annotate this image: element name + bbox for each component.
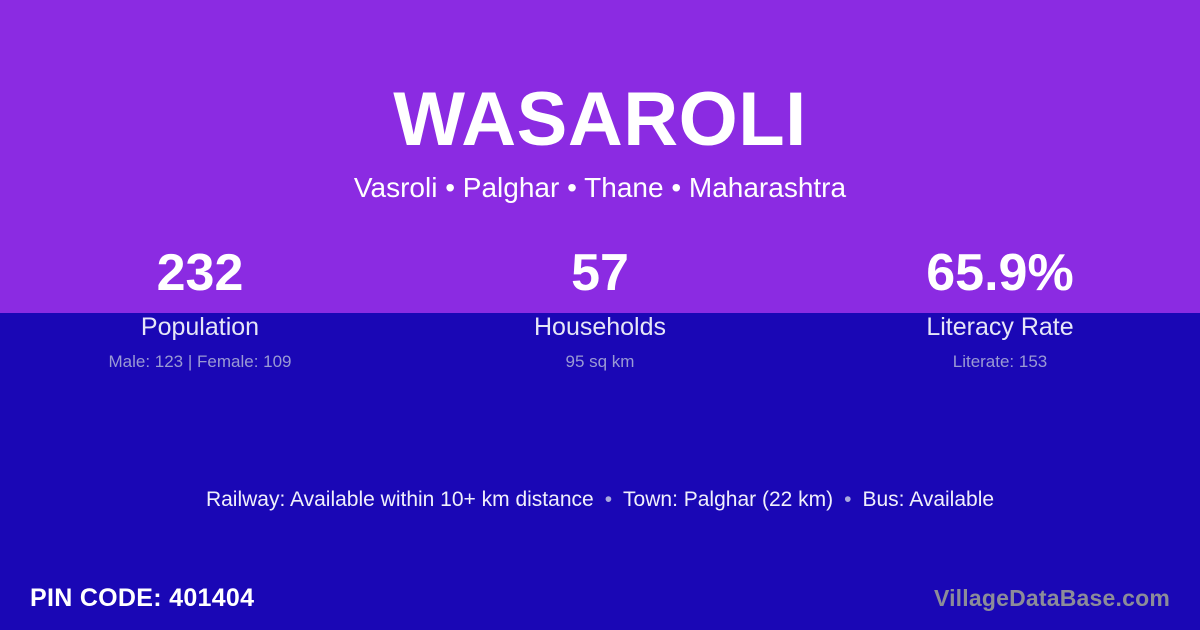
page-title: WASAROLI bbox=[0, 0, 1200, 158]
stat-value: 232 bbox=[0, 243, 400, 303]
stat-label: Literacy Rate bbox=[800, 313, 1200, 342]
amenity-bus: Bus: Available bbox=[863, 488, 995, 511]
amenities-line: Railway: Available within 10+ km distanc… bbox=[0, 485, 1200, 515]
pin-code: PIN CODE: 401404 bbox=[30, 584, 254, 613]
stat-households: 57 Households 95 sq km bbox=[400, 243, 800, 372]
brand-watermark: VillageDataBase.com bbox=[934, 585, 1170, 612]
stat-sublabel: 95 sq km bbox=[400, 352, 800, 372]
stat-sublabel: Literate: 153 bbox=[800, 352, 1200, 372]
card-footer: PIN CODE: 401404 VillageDataBase.com bbox=[0, 566, 1200, 630]
amenity-separator-icon: • bbox=[833, 488, 862, 511]
stat-value: 57 bbox=[400, 243, 800, 303]
amenity-town: Town: Palghar (22 km) bbox=[623, 488, 833, 511]
stat-value: 65.9% bbox=[800, 243, 1200, 303]
village-info-card: WASAROLI Vasroli • Palghar • Thane • Mah… bbox=[0, 0, 1200, 630]
amenity-railway: Railway: Available within 10+ km distanc… bbox=[206, 488, 594, 511]
stats-row: 232 Population Male: 123 | Female: 109 5… bbox=[0, 243, 1200, 372]
stat-label: Population bbox=[0, 313, 400, 342]
amenity-separator-icon: • bbox=[594, 488, 623, 511]
stat-population: 232 Population Male: 123 | Female: 109 bbox=[0, 243, 400, 372]
stat-sublabel: Male: 123 | Female: 109 bbox=[0, 352, 400, 372]
card-header: WASAROLI Vasroli • Palghar • Thane • Mah… bbox=[0, 0, 1200, 202]
breadcrumb: Vasroli • Palghar • Thane • Maharashtra bbox=[0, 158, 1200, 202]
stat-label: Households bbox=[400, 313, 800, 342]
stat-literacy-rate: 65.9% Literacy Rate Literate: 153 bbox=[800, 243, 1200, 372]
